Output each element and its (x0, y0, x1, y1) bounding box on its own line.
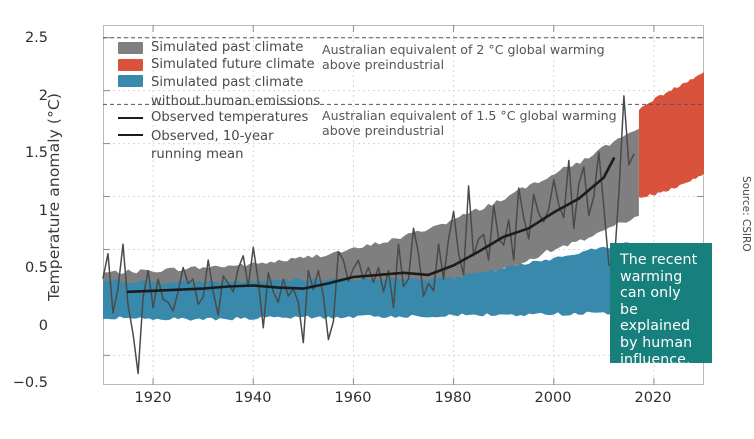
x-tick-label: 2000 (518, 390, 588, 406)
y-tick-label: 2.5 (0, 30, 48, 46)
legend-label: Simulated past climate (151, 75, 303, 90)
legend-item-simulated-natural: Simulated past climate without human emi… (118, 73, 348, 110)
legend-label: Observed temperatures (151, 110, 308, 127)
legend-label: Simulated past climate (151, 40, 303, 57)
x-tick-label: 1940 (218, 390, 288, 406)
x-tick-label: 1960 (318, 390, 388, 406)
y-tick-label: −0.5 (0, 375, 48, 391)
legend-item-simulated-future: Simulated future climate (118, 57, 348, 74)
annotation-15c: Australian equivalent of 1.5 °C global w… (322, 109, 617, 138)
x-tick-label: 2020 (618, 390, 688, 406)
annotation-2c-line1: Australian equivalent of 2 °C global war… (322, 43, 605, 58)
y-tick-label: 1 (0, 203, 48, 219)
legend-swatch-running-mean-line (118, 127, 143, 143)
y-tick-label: 2 (0, 88, 48, 104)
x-tick-label: 1980 (418, 390, 488, 406)
annotation-15c-line1: Australian equivalent of 1.5 °C global w… (322, 109, 617, 124)
annotation-2c-line2: above preindustrial (322, 58, 605, 73)
legend-swatch-future (118, 59, 143, 71)
chart-figure: Temperature anomaly (°C) Source: CSIRO 2… (0, 0, 754, 439)
legend-item-observed: Observed temperatures (118, 110, 348, 127)
legend-label-line2: running mean (151, 147, 243, 162)
legend-label-group: Observed, 10-year running mean (151, 127, 274, 164)
legend-label-line2: without human emissions (151, 94, 320, 109)
annotation-2c: Australian equivalent of 2 °C global war… (322, 43, 605, 72)
legend-swatch-natural (118, 75, 143, 87)
source-credit: Source: CSIRO (740, 176, 752, 296)
annotation-15c-line2: above preindustrial (322, 124, 617, 139)
legend-label: Simulated future climate (151, 57, 315, 74)
legend-item-simulated-past: Simulated past climate (118, 40, 348, 57)
x-tick-label: 1920 (118, 390, 188, 406)
legend-swatch-observed-line (118, 110, 143, 126)
legend-label: Observed, 10-year (151, 129, 274, 144)
callout-box: The recent warming can only be explained… (610, 243, 712, 363)
y-tick-label: 1.5 (0, 145, 48, 161)
y-tick-label: 0 (0, 318, 48, 334)
legend-label-group: Simulated past climate without human emi… (151, 73, 320, 110)
chart-legend: Simulated past climate Simulated future … (118, 40, 348, 164)
legend-swatch-past (118, 42, 143, 54)
y-tick-label: 0.5 (0, 260, 48, 276)
legend-item-running-mean: Observed, 10-year running mean (118, 127, 348, 164)
